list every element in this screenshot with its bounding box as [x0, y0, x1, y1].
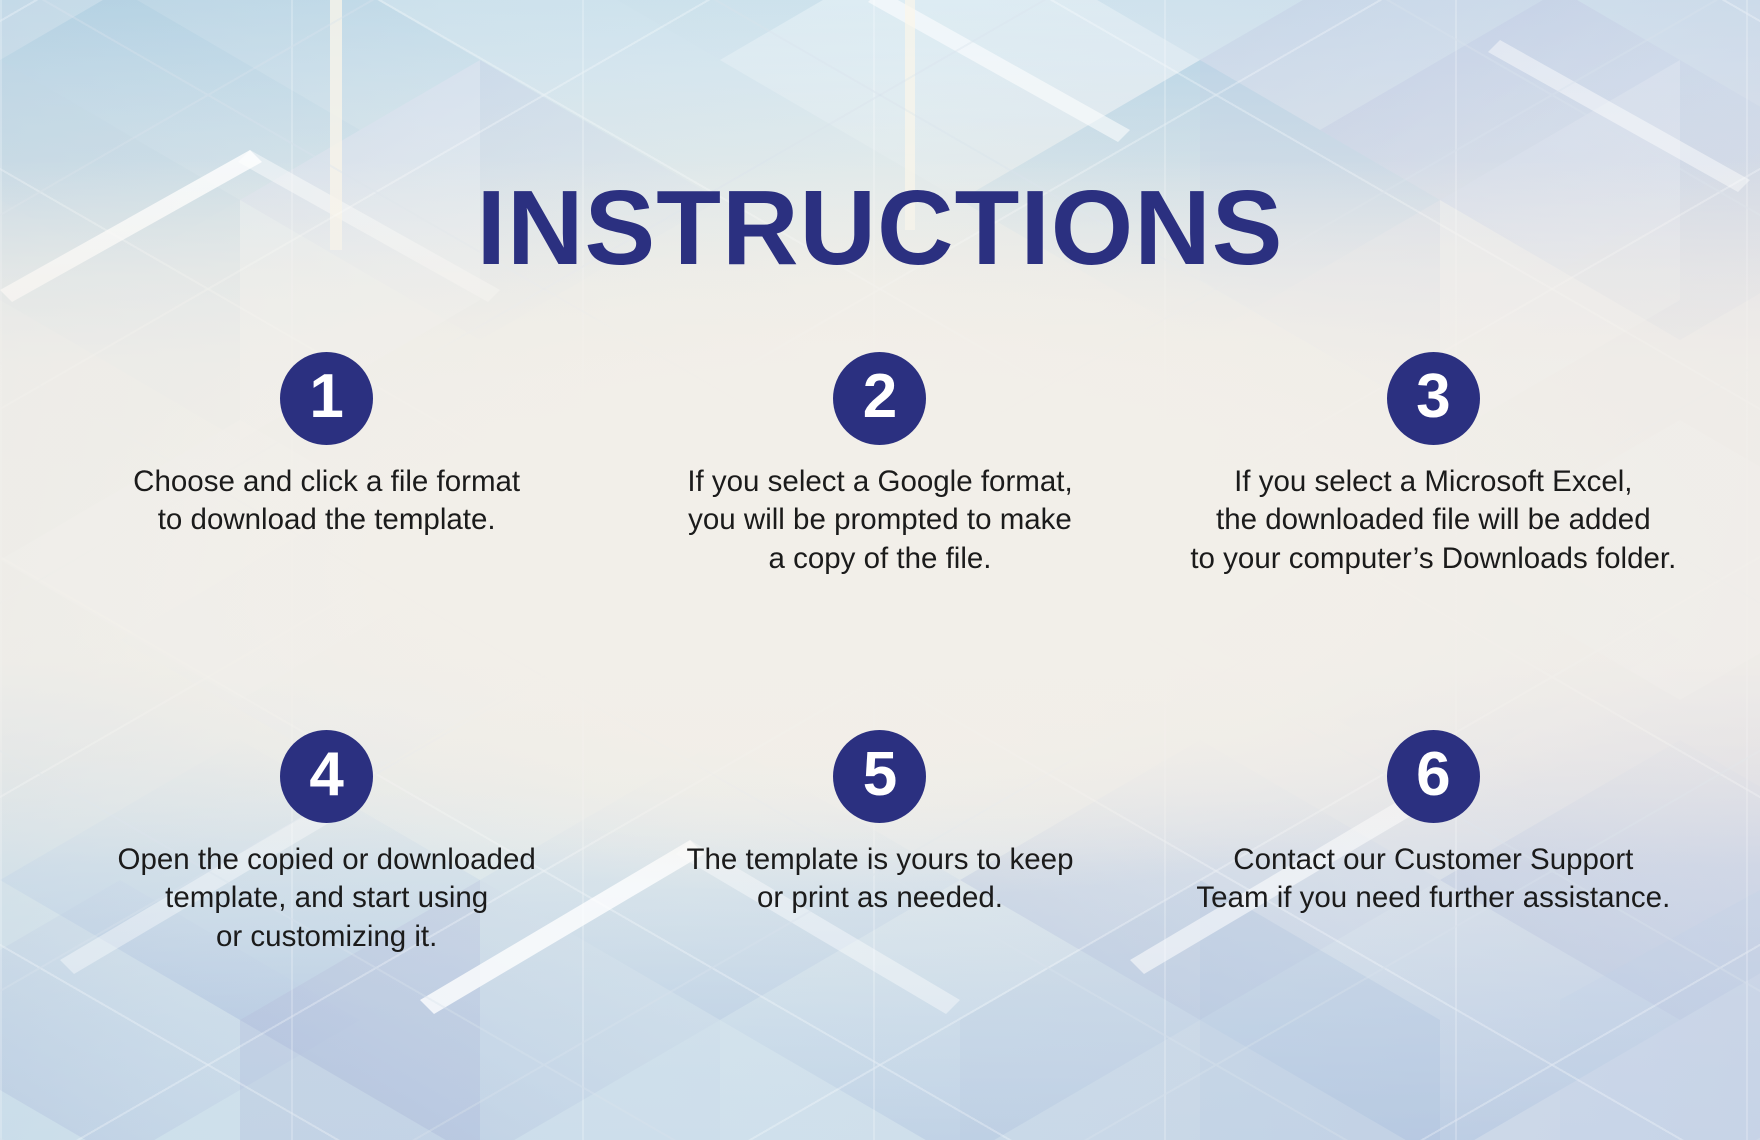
step-number-badge-4: 4: [280, 730, 373, 823]
step-number-badge-3: 3: [1387, 352, 1480, 445]
step-description-5: The template is yours to keep or print a…: [687, 841, 1074, 918]
step-description-2: If you select a Google format, you will …: [687, 463, 1072, 578]
step-description-6: Contact our Customer Support Team if you…: [1196, 841, 1670, 918]
step-description-1: Choose and click a file format to downlo…: [133, 463, 520, 540]
instruction-step-4: 4 Open the copied or downloaded template…: [50, 730, 603, 1050]
instruction-step-2: 2 If you select a Google format, you wil…: [603, 352, 1156, 672]
instruction-step-1: 1 Choose and click a file format to down…: [50, 352, 603, 672]
instruction-step-3: 3 If you select a Microsoft Excel, the d…: [1157, 352, 1710, 672]
instruction-step-6: 6 Contact our Customer Support Team if y…: [1157, 730, 1710, 1050]
step-description-3: If you select a Microsoft Excel, the dow…: [1190, 463, 1676, 578]
instructions-poster: INSTRUCTIONS 1 Choose and click a file f…: [0, 0, 1760, 1140]
instruction-steps-grid: 1 Choose and click a file format to down…: [50, 352, 1710, 1050]
step-number-badge-1: 1: [280, 352, 373, 445]
step-number-badge-6: 6: [1387, 730, 1480, 823]
step-description-4: Open the copied or downloaded template, …: [118, 841, 536, 956]
instruction-step-5: 5 The template is yours to keep or print…: [603, 730, 1156, 1050]
step-number-badge-5: 5: [833, 730, 926, 823]
step-number-badge-2: 2: [833, 352, 926, 445]
page-title: INSTRUCTIONS: [0, 175, 1760, 281]
poster-content: INSTRUCTIONS 1 Choose and click a file f…: [0, 0, 1760, 1140]
